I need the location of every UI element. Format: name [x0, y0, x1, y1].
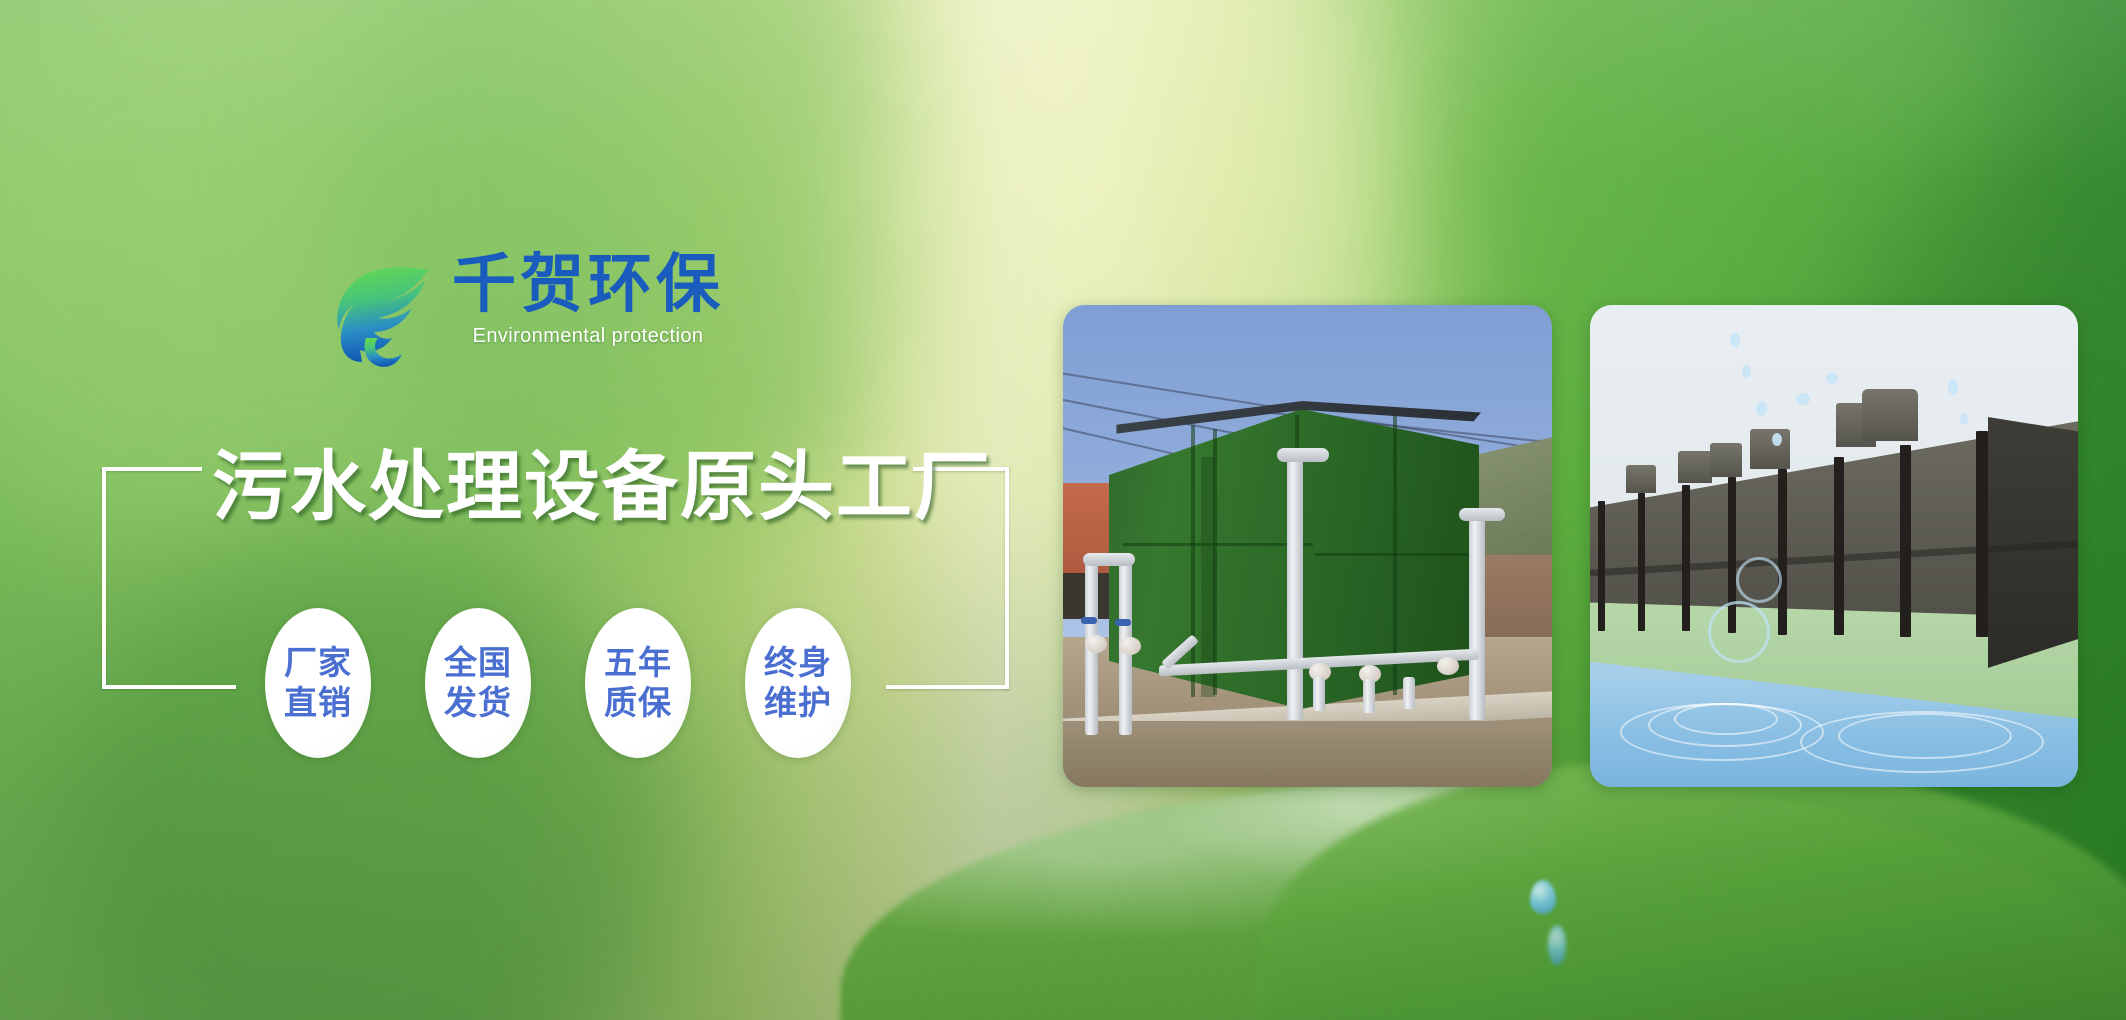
- product-photo-daf-tank[interactable]: [1063, 305, 1552, 787]
- water-droplet-icon: [1548, 925, 1566, 965]
- feature-badge-five-year-warranty[interactable]: 五年 质保: [585, 608, 691, 758]
- feature-badge-lifetime-maintenance[interactable]: 终身 维护: [745, 608, 851, 758]
- badge-line-2: 直销: [284, 683, 352, 723]
- badge-line-2: 质保: [604, 683, 672, 723]
- feature-badge-nationwide-shipping[interactable]: 全国 发货: [425, 608, 531, 758]
- photo-road: [1063, 721, 1552, 787]
- badge-line-1: 终身: [764, 643, 832, 683]
- brand-name-en: Environmental protection: [452, 325, 724, 348]
- page-title: 污水处理设备原头工厂: [212, 425, 992, 535]
- brand-name-cn: 千贺环保: [452, 252, 724, 319]
- promo-banner: 千贺环保 Environmental protection 污水处理设备原头工厂…: [0, 0, 2126, 1020]
- product-photo-buried-tank[interactable]: [1590, 305, 2078, 787]
- leaf-swoosh-icon: [332, 258, 436, 374]
- brand-logo: 千贺环保 Environmental protection: [332, 252, 724, 374]
- badge-line-1: 全国: [444, 643, 512, 683]
- badge-line-2: 维护: [764, 683, 832, 723]
- feature-badge-list: 厂家 直销 全国 发货 五年 质保 终身 维护: [265, 608, 851, 758]
- badge-line-1: 五年: [604, 643, 672, 683]
- water-droplet-icon: [1530, 880, 1556, 914]
- badge-line-1: 厂家: [284, 643, 352, 683]
- badge-line-2: 发货: [444, 683, 512, 723]
- feature-badge-factory-direct[interactable]: 厂家 直销: [265, 608, 371, 758]
